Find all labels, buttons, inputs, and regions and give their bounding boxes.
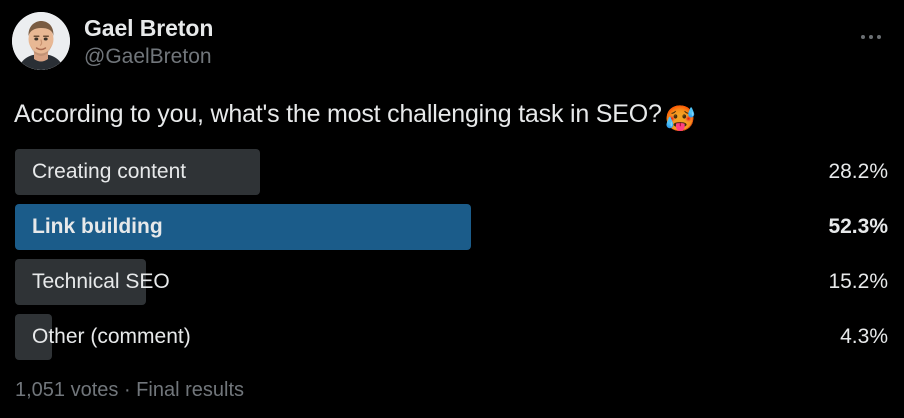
poll-option-row[interactable]: Technical SEO 15.2% [15,259,888,305]
author-handle[interactable]: @GaelBreton [84,43,213,70]
poll-option-percent: 4.3% [840,325,888,349]
poll-option-percent: 28.2% [828,160,888,184]
tweet-header: Gael Breton @GaelBreton [0,0,904,84]
poll-option-label: Link building [32,215,163,239]
poll-option-row[interactable]: Link building 52.3% [15,204,888,250]
tweet-text: According to you, what's the most challe… [0,84,904,135]
poll-option-row[interactable]: Other (comment) 4.3% [15,314,888,360]
author-identity: Gael Breton @GaelBreton [84,12,213,70]
hot-face-emoji: 🥵 [665,103,696,135]
more-options-button[interactable] [852,18,890,56]
poll-option-label: Technical SEO [32,270,170,294]
poll-option-percent: 52.3% [828,215,888,239]
ellipsis-icon [861,35,881,39]
poll-footer: 1,051 votes · Final results [0,369,904,403]
poll-option-percent: 15.2% [828,270,888,294]
poll-option-label: Creating content [32,160,186,184]
avatar[interactable] [12,12,70,70]
poll-option-label: Other (comment) [32,325,191,349]
poll: Creating content 28.2% Link building 52.… [0,149,904,360]
author-display-name[interactable]: Gael Breton [84,14,213,42]
tweet-poll-card: Gael Breton @GaelBreton According to you… [0,0,904,418]
poll-option-row[interactable]: Creating content 28.2% [15,149,888,195]
tweet-text-body: According to you, what's the most challe… [14,100,662,128]
avatar-image [12,12,70,70]
